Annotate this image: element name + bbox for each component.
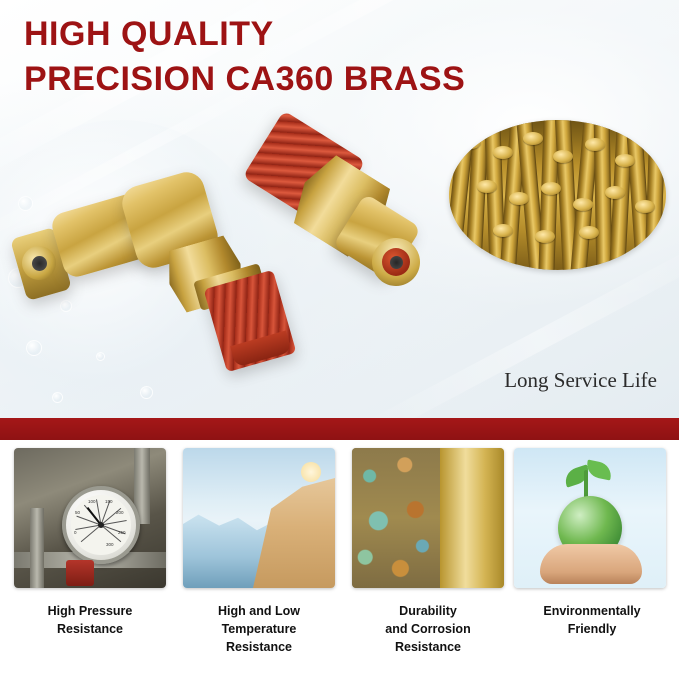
brass-rods-photo [449,120,666,270]
hero-subtitle: Long Service Life [504,368,657,393]
sun-icon [301,462,321,482]
gauge-number: 200 [116,510,124,515]
gauge-number: 0 [74,530,77,535]
feature-caption-2-line-1: High and Low [179,602,339,620]
feature-card-image-1: 0 50 100 150 200 250 300 [14,448,166,588]
gauge-number: 50 [75,510,80,515]
elbow-fitting-bore [32,256,47,271]
feature-caption-3-line-3: Resistance [348,638,508,656]
feature-card-image-4 [514,448,666,588]
water-bubble [60,300,72,312]
features-grid: 0 50 100 150 200 250 300 High Pressure R… [0,440,679,679]
feature-caption-1: High Pressure Resistance [10,602,170,638]
feature-caption-3: Durability and Corrosion Resistance [348,602,508,656]
water-bubble [96,352,105,361]
feature-card-image-2 [183,448,335,588]
gauge-number: 250 [118,530,126,535]
pipe [30,508,44,588]
feature-caption-3-line-2: and Corrosion [348,620,508,638]
feature-caption-3-line-1: Durability [348,602,508,620]
gauge-number: 100 [88,499,96,504]
hero-title-line-1: HIGH QUALITY [24,12,465,57]
feature-caption-1-line-1: High Pressure [10,602,170,620]
feature-card-image-3 [352,448,504,588]
gauge-number: 150 [105,499,113,504]
hero-title: HIGH QUALITY PRECISION CA360 BRASS [24,12,465,102]
feature-caption-4-line-2: Friendly [512,620,672,638]
hero-section: HIGH QUALITY PRECISION CA360 BRASS [0,0,679,418]
feature-caption-2-line-2: Temperature [179,620,339,638]
feature-caption-4: Environmentally Friendly [512,602,672,638]
gauge-number: 300 [106,542,114,547]
water-bubble [18,196,33,211]
feature-caption-1-line-2: Resistance [10,620,170,638]
hero-title-line-2: PRECISION CA360 BRASS [24,57,465,102]
features-section: 0 50 100 150 200 250 300 High Pressure R… [0,440,679,679]
feature-caption-2: High and Low Temperature Resistance [179,602,339,656]
water-bubble [52,392,63,403]
corroded-surface [352,448,440,588]
product-infographic: HIGH QUALITY PRECISION CA360 BRASS [0,0,679,679]
feature-caption-2-line-3: Resistance [179,638,339,656]
valve-handle [66,560,94,586]
feature-caption-4-line-1: Environmentally [512,602,672,620]
brass-surface [440,448,504,588]
hand [540,544,642,584]
accent-divider-bar [0,418,679,440]
water-bubble [26,340,42,356]
pressure-gauge: 0 50 100 150 200 250 300 [62,486,140,564]
straight-fitting-bore [390,256,403,269]
water-bubble [140,386,153,399]
